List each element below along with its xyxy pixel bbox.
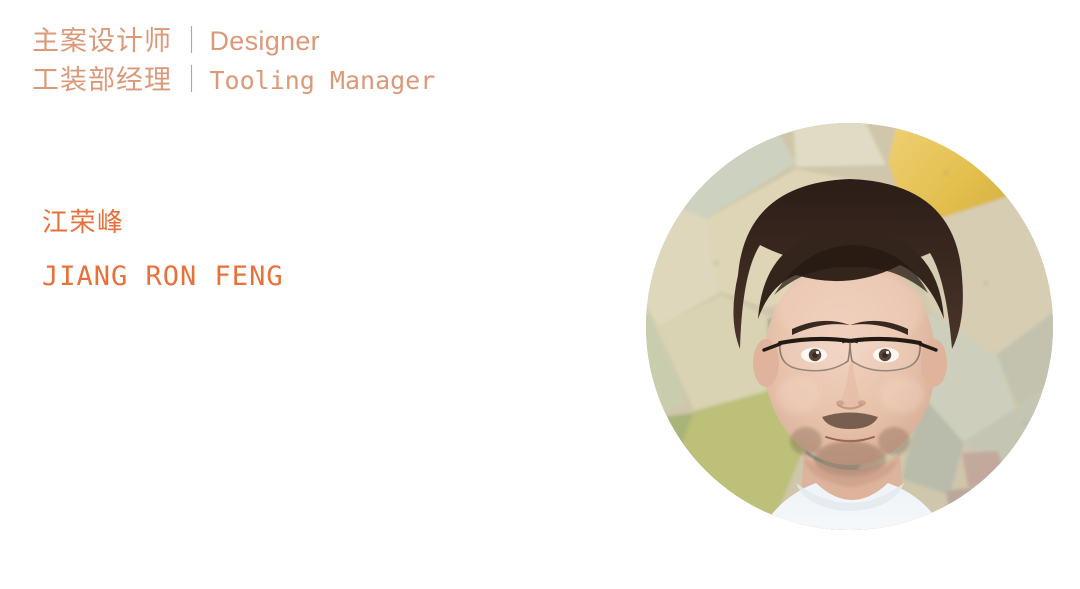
role-line-designer-en: Designer [210,26,320,56]
person-name-cn: 江荣峰 [42,208,284,239]
portrait-photo-image [646,123,1053,530]
role-line-designer-separator: ｜ [172,22,210,60]
person-name-block: 江荣峰 JIANG RON FENG [42,208,284,292]
role-line-tooling-manager-cn: 工装部经理 [32,65,172,96]
person-name-en: JIANG RON FENG [42,262,284,292]
role-line-tooling-manager: 工装部经理｜Tooling Manager [32,61,435,100]
role-line-designer: 主案设计师｜Designer [32,22,435,61]
role-line-tooling-manager-en: Tooling Manager [210,66,436,95]
role-line-tooling-manager-separator: ｜ [172,61,210,99]
portrait-photo [646,123,1053,530]
role-title-block: 主案设计师｜Designer 工装部经理｜Tooling Manager [32,22,435,101]
role-line-designer-cn: 主案设计师 [32,26,172,57]
